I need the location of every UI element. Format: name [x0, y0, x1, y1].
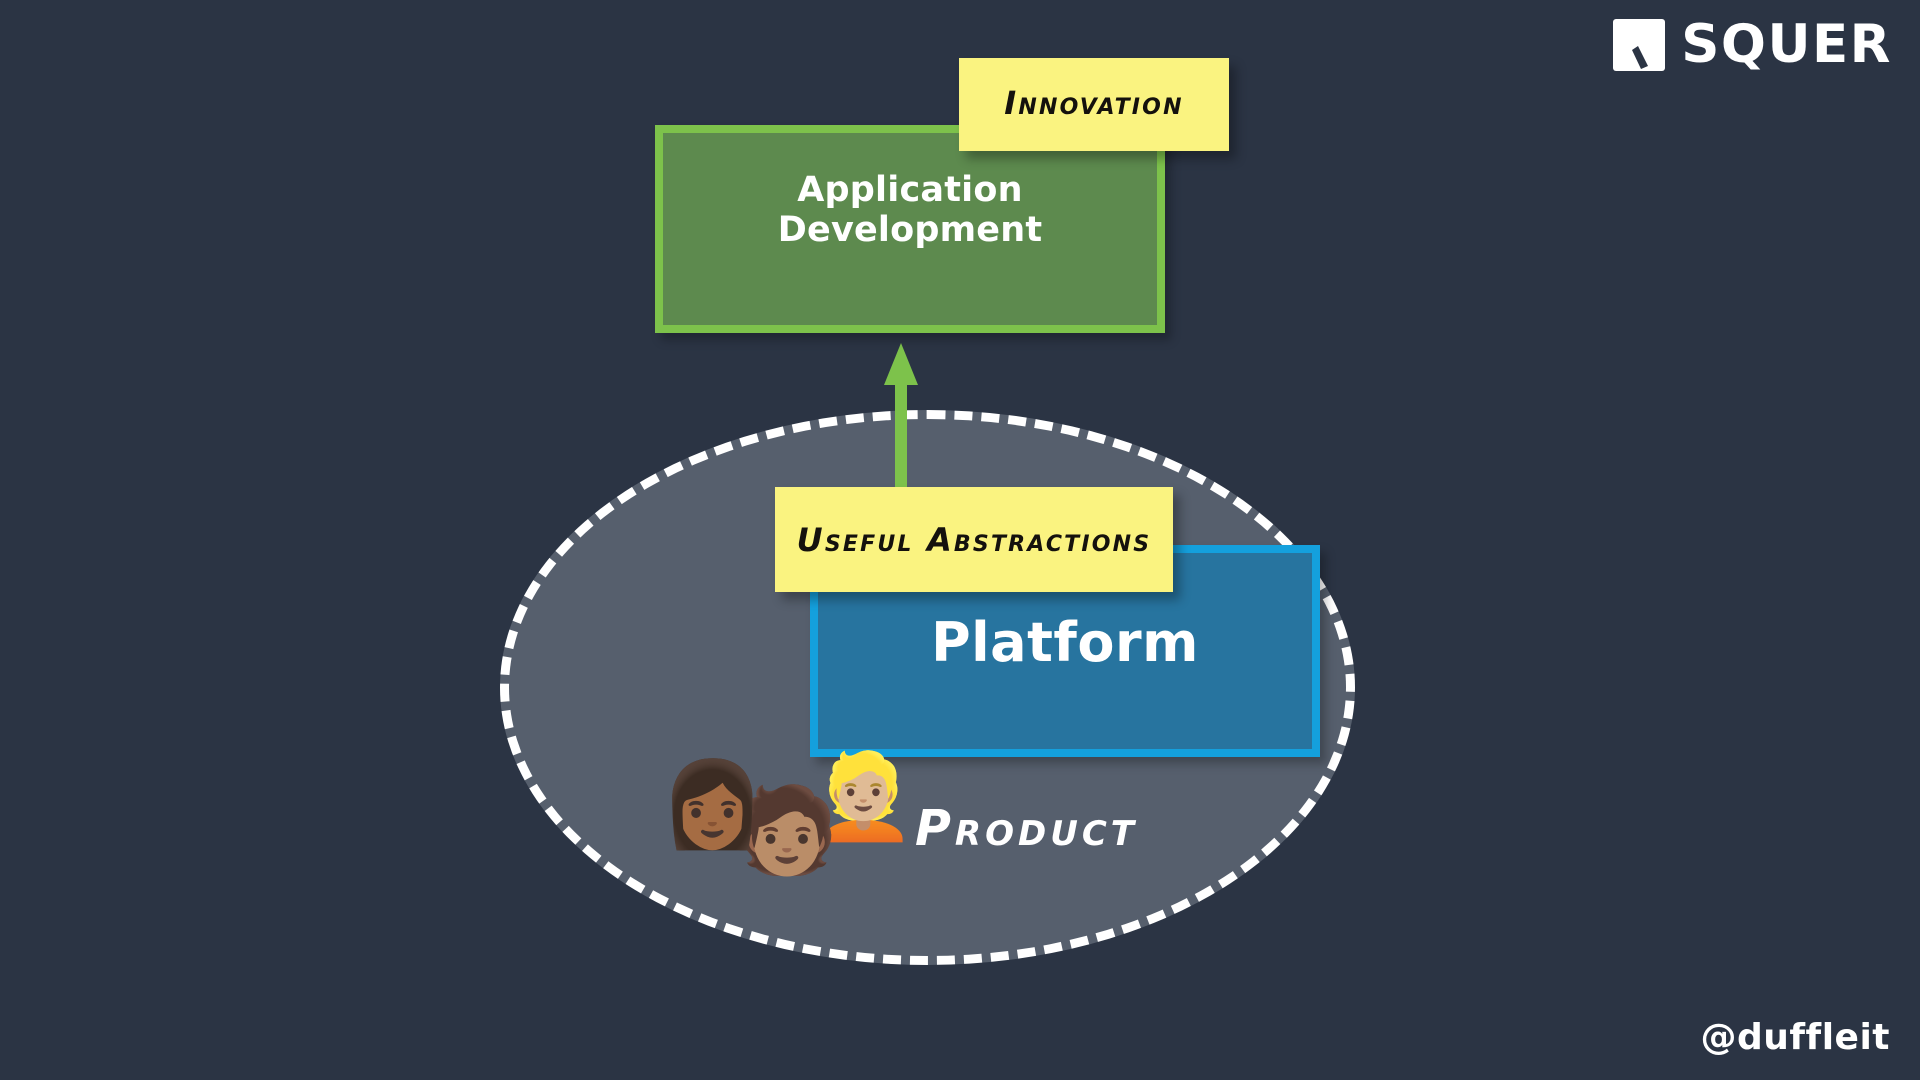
brand-logo: SQUER: [1613, 18, 1892, 71]
box-platform-label: Platform: [931, 611, 1199, 674]
sticky-note-useful-abstractions-label: Useful Abstractions: [797, 521, 1152, 559]
author-handle: @duffleit: [1700, 1017, 1890, 1058]
brand-wordmark: SQUER: [1681, 18, 1892, 71]
squer-logo-icon: [1613, 19, 1665, 71]
people-group-icon: 👩🏾🧑🏽👱🏼: [660, 762, 896, 846]
sticky-note-innovation[interactable]: Innovation: [959, 58, 1229, 151]
box-application-development[interactable]: Application Development: [655, 125, 1165, 333]
sticky-note-useful-abstractions[interactable]: Useful Abstractions: [775, 487, 1173, 592]
product-label: Product: [915, 800, 1138, 857]
sticky-note-innovation-label: Innovation: [1004, 84, 1183, 122]
box-application-development-label: Application Development: [663, 170, 1157, 250]
slide-canvas: Application Development Platform Innovat…: [0, 0, 1920, 1080]
